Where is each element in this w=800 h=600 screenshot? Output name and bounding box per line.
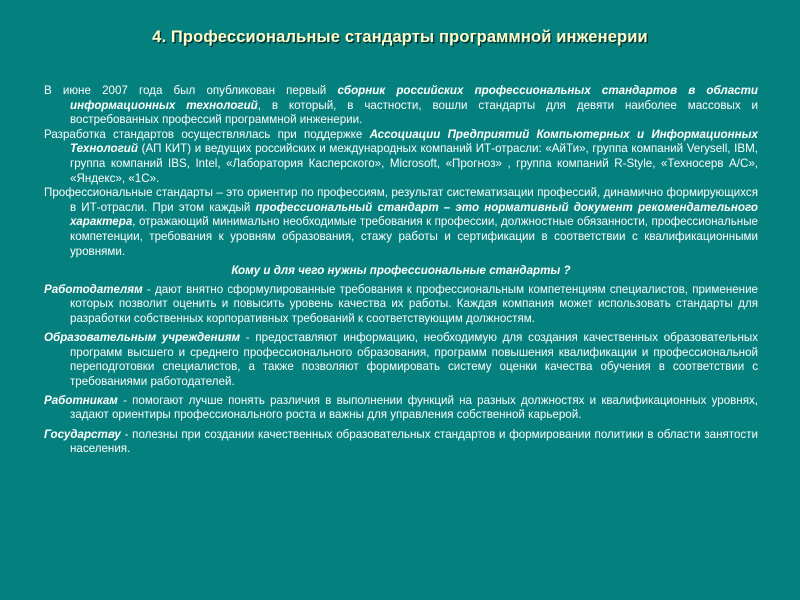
paragraph-development: Разработка стандартов осуществлялась при… bbox=[44, 128, 758, 186]
slide-body: В июне 2007 года был опубликован первый … bbox=[44, 84, 758, 457]
lead-label: Работникам bbox=[44, 394, 118, 407]
paragraph-text: - полезны при создании качественных обра… bbox=[70, 428, 758, 456]
slide-title: 4. Профессиональные стандарты программно… bbox=[0, 28, 800, 48]
run-text: Разработка стандартов осуществлялась при… bbox=[44, 128, 370, 141]
lead-label: Работодателям bbox=[44, 283, 143, 296]
question-line: Кому и для чего нужны профессиональные с… bbox=[44, 264, 758, 279]
run-text: (АП КИТ) и ведущих российских и междунар… bbox=[70, 142, 758, 184]
lead-label: Государству bbox=[44, 428, 121, 441]
paragraph-publication: В июне 2007 года был опубликован первый … bbox=[44, 84, 758, 128]
paragraph-employers: Работодателям - дают внятно сформулирова… bbox=[44, 283, 758, 327]
paragraph-educational-institutions: Образовательным учреждениям - предоставл… bbox=[44, 331, 758, 389]
run-text: , отражающий минимально необходимые треб… bbox=[70, 215, 758, 257]
lead-label: Образовательным учреждениям bbox=[44, 331, 240, 344]
paragraph-text: - дают внятно сформулированные требовани… bbox=[70, 283, 758, 325]
presentation-slide: 4. Профессиональные стандарты программно… bbox=[0, 0, 800, 600]
paragraph-state: Государству - полезны при создании качес… bbox=[44, 428, 758, 457]
run-text: В июне 2007 года был опубликован первый bbox=[44, 84, 337, 97]
paragraph-employees: Работникам - помогают лучше понять разли… bbox=[44, 394, 758, 423]
paragraph-text: - помогают лучше понять различия в выпол… bbox=[70, 394, 758, 422]
paragraph-definition: Профессиональные стандарты – это ориенти… bbox=[44, 186, 758, 259]
